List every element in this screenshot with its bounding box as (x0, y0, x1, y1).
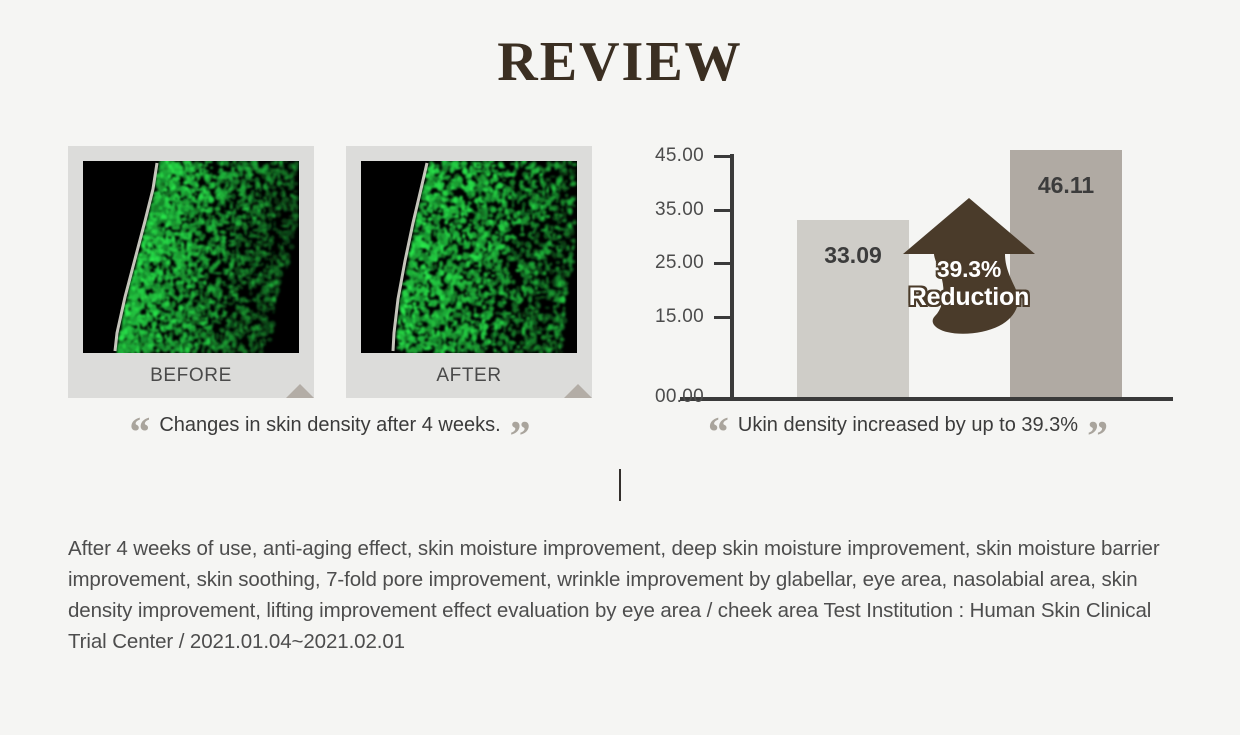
photo-card-after: AFTER (346, 146, 592, 398)
y-axis-tick-label: 15.00 (624, 306, 704, 328)
corner-fold-icon (286, 370, 314, 398)
skin-density-render-before (83, 161, 299, 353)
study-description: After 4 weeks of use, anti-aging effect,… (68, 533, 1176, 657)
caption-right-text: Ukin density increased by up to 39.3% (738, 414, 1078, 437)
y-axis-tick-label: 25.00 (624, 252, 704, 274)
bar-value-label: 33.09 (797, 242, 909, 269)
skin-density-bar-chart: 00.0015.0025.0035.0045.0033.0946.11 (620, 140, 1180, 410)
caption-left: “ Changes in skin density after 4 weeks.… (68, 414, 592, 437)
bar-before: 33.09 (797, 220, 909, 397)
skin-density-image-after (361, 161, 577, 353)
skin-density-image-before (83, 161, 299, 353)
corner-fold-icon (564, 370, 592, 398)
y-axis-tick-mark (714, 155, 730, 158)
photo-label-before: BEFORE (83, 353, 299, 398)
y-axis-tick-mark (714, 316, 730, 319)
photo-label-after: AFTER (361, 353, 577, 398)
y-axis-tick-label: 45.00 (624, 145, 704, 167)
bar-value-label: 46.11 (1010, 172, 1122, 199)
section-divider (619, 469, 621, 501)
skin-density-render-after (361, 161, 577, 353)
x-axis-line (680, 397, 1173, 401)
y-axis-tick-label: 35.00 (624, 199, 704, 221)
page-title: REVIEW (0, 34, 1240, 90)
photo-card-before: BEFORE (68, 146, 314, 398)
caption-right: “ Ukin density increased by up to 39.3% … (640, 414, 1176, 437)
y-axis-tick-mark (714, 209, 730, 212)
caption-left-text: Changes in skin density after 4 weeks. (159, 414, 500, 437)
reduction-percent: 39.3% (901, 256, 1037, 283)
y-axis-tick-label: 00.00 (624, 386, 704, 408)
y-axis-line (730, 154, 734, 399)
reduction-label: Reduction (901, 283, 1037, 312)
reduction-arrow-badge: 39.3% Reduction (901, 196, 1037, 342)
y-axis-tick-mark (714, 262, 730, 265)
